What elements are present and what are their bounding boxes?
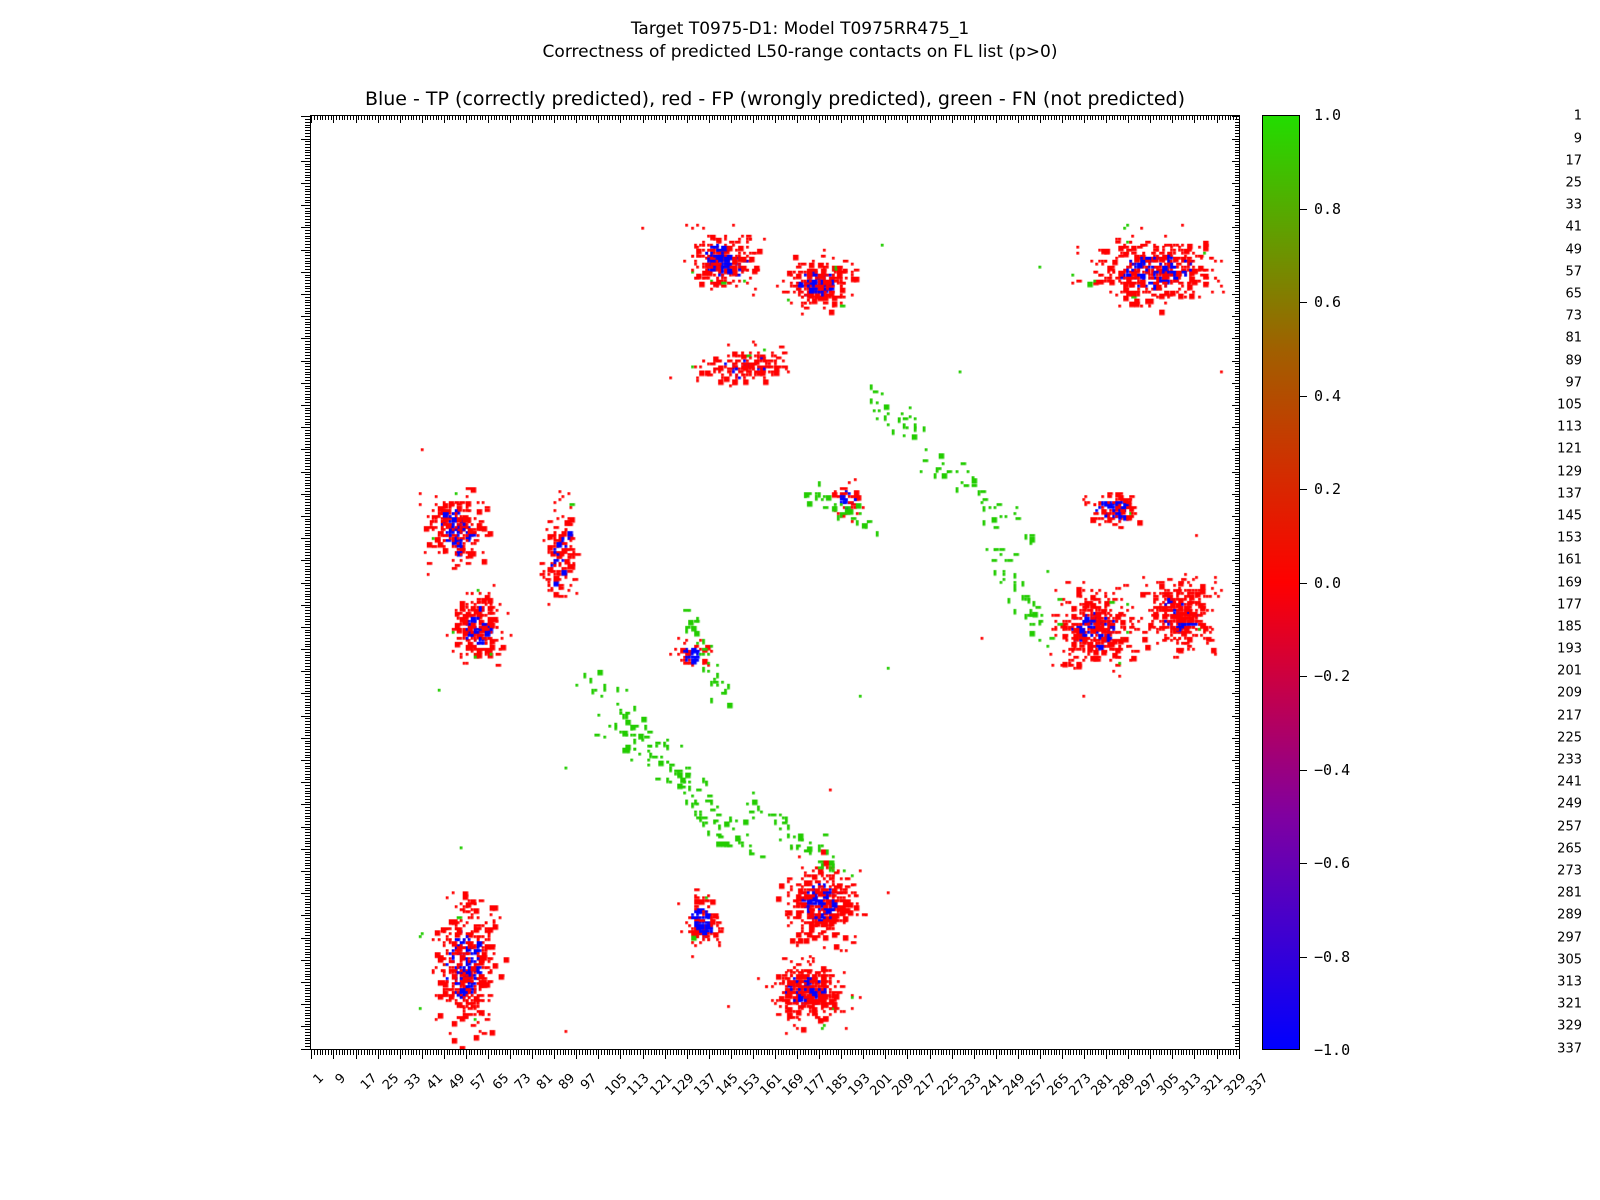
x-tick — [866, 1050, 867, 1055]
x-tick — [1059, 1050, 1060, 1055]
contact-map-canvas[interactable] — [311, 116, 1239, 1049]
x-tick-top — [1137, 115, 1138, 120]
x-tick — [391, 1050, 392, 1055]
x-tick — [1203, 1050, 1204, 1055]
x-tick-top — [1192, 115, 1193, 120]
x-tick-top — [529, 115, 530, 120]
y-axis-label: 297 — [1557, 930, 1582, 945]
x-tick — [850, 1050, 851, 1055]
x-tick-top — [325, 115, 326, 120]
x-tick-top — [1062, 115, 1063, 123]
x-tick-top — [723, 115, 724, 120]
y-tick — [305, 863, 310, 864]
y-tick-right — [1235, 755, 1240, 756]
colorbar-gradient — [1262, 115, 1300, 1050]
x-tick-top — [1125, 115, 1126, 120]
y-tick-right — [1235, 336, 1240, 337]
y-tick-right — [1235, 791, 1240, 792]
x-tick-top — [852, 115, 853, 120]
x-tick-top — [380, 115, 381, 120]
y-tick-right — [1235, 860, 1240, 861]
x-tick-top — [728, 115, 729, 120]
y-tick — [305, 133, 310, 134]
x-tick-top — [499, 115, 500, 120]
x-tick — [383, 1050, 384, 1055]
x-tick-top — [629, 115, 630, 120]
x-tick — [1114, 1050, 1115, 1055]
x-tick-top — [466, 115, 467, 123]
y-tick-right — [1235, 899, 1240, 900]
x-tick — [1004, 1050, 1005, 1055]
x-tick — [725, 1050, 726, 1055]
x-tick — [772, 1050, 773, 1055]
x-tick — [540, 1050, 541, 1055]
x-tick-top — [620, 115, 621, 123]
y-tick-right — [1235, 1035, 1240, 1036]
y-tick — [305, 541, 310, 542]
y-tick-right — [1235, 197, 1240, 198]
x-tick — [590, 1050, 591, 1055]
x-tick-top — [949, 115, 950, 120]
x-tick-top — [367, 115, 368, 120]
y-tick-right — [1235, 713, 1240, 714]
y-tick — [305, 824, 310, 825]
x-tick-top — [1203, 115, 1204, 120]
y-tick-right — [1235, 793, 1240, 794]
x-tick-top — [598, 115, 599, 123]
x-tick — [684, 1050, 685, 1055]
x-tick — [1065, 1050, 1066, 1055]
x-tick-top — [827, 115, 828, 120]
x-tick-top — [993, 115, 994, 120]
x-tick-top — [1068, 115, 1069, 120]
x-tick — [808, 1050, 809, 1055]
x-tick — [1021, 1050, 1022, 1055]
y-tick-right — [1235, 322, 1240, 323]
y-axis-label: 281 — [1557, 886, 1582, 901]
y-tick-right — [1235, 441, 1240, 442]
y-tick-right — [1235, 877, 1240, 878]
colorbar-ticks: 1.00.80.60.40.20.0−0.2−0.4−0.6−0.8−1.0 — [1300, 115, 1312, 1050]
y-tick-right — [1235, 521, 1240, 522]
x-tick-top — [1181, 115, 1182, 120]
x-tick — [535, 1050, 536, 1055]
x-tick — [814, 1050, 815, 1055]
y-tick — [305, 707, 310, 708]
x-tick — [916, 1050, 917, 1055]
x-tick-top — [502, 115, 503, 120]
y-tick-right — [1232, 494, 1240, 495]
x-tick — [1233, 1050, 1234, 1055]
x-tick — [1150, 1050, 1151, 1059]
y-tick-right — [1235, 177, 1240, 178]
y-tick — [305, 136, 310, 137]
x-tick — [1197, 1050, 1198, 1055]
y-tick — [305, 535, 310, 536]
y-tick — [305, 777, 310, 778]
x-tick-top — [905, 115, 906, 120]
x-tick — [596, 1050, 597, 1055]
y-tick — [305, 802, 310, 803]
y-tick-right — [1235, 455, 1240, 456]
x-tick-top — [1183, 115, 1184, 120]
y-tick — [305, 732, 310, 733]
colorbar-tick — [1300, 489, 1307, 490]
y-tick-right — [1235, 885, 1240, 886]
y-tick-right — [1235, 777, 1240, 778]
x-tick-top — [841, 115, 842, 123]
y-axis-label: 161 — [1557, 553, 1582, 568]
x-tick — [742, 1050, 743, 1055]
x-tick — [369, 1050, 370, 1055]
y-tick-right — [1235, 674, 1240, 675]
y-tick-right — [1235, 588, 1240, 589]
x-tick-top — [441, 115, 442, 120]
x-tick-top — [1034, 115, 1035, 120]
x-tick-top — [861, 115, 862, 120]
y-tick-right — [1235, 929, 1240, 930]
y-tick-right — [1235, 655, 1240, 656]
x-axis-label: 217 — [912, 1071, 940, 1099]
x-tick-top — [615, 115, 616, 120]
y-tick — [305, 774, 310, 775]
y-tick-right — [1232, 183, 1240, 184]
x-tick — [943, 1050, 944, 1055]
y-tick — [305, 569, 310, 570]
y-tick-right — [1235, 222, 1240, 223]
y-tick — [305, 713, 310, 714]
x-tick-top — [850, 115, 851, 120]
y-tick-right — [1235, 735, 1240, 736]
y-tick — [305, 1035, 310, 1036]
x-tick-top — [1112, 115, 1113, 120]
x-tick — [1090, 1050, 1091, 1055]
y-tick — [305, 324, 310, 325]
y-tick — [305, 985, 310, 986]
y-tick — [301, 649, 310, 650]
y-tick — [305, 347, 310, 348]
x-tick-top — [1012, 115, 1013, 120]
x-tick — [1214, 1050, 1215, 1055]
y-tick-right — [1235, 119, 1240, 120]
x-tick-top — [1040, 115, 1041, 123]
y-tick-right — [1235, 746, 1240, 747]
x-tick-top — [805, 115, 806, 120]
y-tick-right — [1235, 313, 1240, 314]
x-axis-label: 33 — [402, 1071, 424, 1093]
y-tick — [305, 735, 310, 736]
y-tick — [305, 865, 310, 866]
colorbar-tick-label: −0.2 — [1314, 667, 1350, 685]
y-tick — [305, 924, 310, 925]
y-tick — [305, 793, 310, 794]
x-tick — [325, 1050, 326, 1055]
x-axis-ticks — [310, 1050, 1240, 1064]
y-axis-label: 137 — [1557, 486, 1582, 501]
y-tick-right — [1235, 935, 1240, 936]
x-tick-top — [482, 115, 483, 120]
x-tick — [1054, 1050, 1055, 1055]
y-tick — [305, 843, 310, 844]
x-tick — [698, 1050, 699, 1055]
x-tick — [408, 1050, 409, 1055]
y-tick-right — [1235, 644, 1240, 645]
x-tick-top — [996, 115, 997, 123]
x-tick-top — [640, 115, 641, 120]
y-tick — [305, 455, 310, 456]
y-tick-right — [1235, 175, 1240, 176]
y-tick — [305, 266, 310, 267]
x-tick — [631, 1050, 632, 1055]
x-tick — [665, 1050, 666, 1059]
x-tick — [1026, 1050, 1027, 1055]
y-tick — [305, 164, 310, 165]
y-tick-right — [1235, 757, 1240, 758]
y-tick-right — [1235, 741, 1240, 742]
x-tick — [1106, 1050, 1107, 1059]
colorbar-tick-label: −0.6 — [1314, 854, 1350, 872]
y-tick — [305, 779, 310, 780]
x-tick — [706, 1050, 707, 1055]
x-tick — [1073, 1050, 1074, 1055]
x-tick-top — [394, 115, 395, 120]
x-tick — [322, 1050, 323, 1055]
y-tick — [305, 180, 310, 181]
x-tick-top — [596, 115, 597, 120]
x-tick — [1139, 1050, 1140, 1055]
y-tick — [305, 485, 310, 486]
x-tick-top — [673, 115, 674, 120]
y-tick — [305, 330, 310, 331]
x-tick — [1137, 1050, 1138, 1055]
x-tick — [963, 1050, 964, 1055]
x-tick-top — [767, 115, 768, 120]
y-tick-right — [1235, 308, 1240, 309]
y-tick-right — [1235, 577, 1240, 578]
y-tick — [305, 741, 310, 742]
y-tick-right — [1235, 852, 1240, 853]
x-tick — [1175, 1050, 1176, 1055]
x-tick — [825, 1050, 826, 1055]
y-tick — [305, 546, 310, 547]
contact-map-plot[interactable] — [310, 115, 1240, 1050]
x-tick-top — [952, 115, 953, 123]
x-tick — [1103, 1050, 1104, 1055]
y-tick — [305, 208, 310, 209]
x-tick — [502, 1050, 503, 1055]
y-tick — [305, 896, 310, 897]
x-tick — [1178, 1050, 1179, 1055]
y-tick — [305, 460, 310, 461]
y-tick-right — [1235, 749, 1240, 750]
y-tick-right — [1235, 319, 1240, 320]
y-axis-ticks — [296, 115, 310, 1050]
x-tick-top — [910, 115, 911, 120]
x-tick-top — [1217, 115, 1218, 123]
x-tick-top — [1029, 115, 1030, 120]
x-tick — [927, 1050, 928, 1055]
y-tick-right — [1235, 1043, 1240, 1044]
y-tick-right — [1235, 144, 1240, 145]
y-tick-right — [1235, 669, 1240, 670]
y-tick-right — [1235, 463, 1240, 464]
x-axis-label: 1 — [311, 1071, 327, 1087]
y-tick-right — [1235, 388, 1240, 389]
x-tick — [568, 1050, 569, 1055]
x-tick-top — [987, 115, 988, 120]
y-tick — [305, 1024, 310, 1025]
y-tick-right — [1235, 258, 1240, 259]
x-tick — [714, 1050, 715, 1055]
y-tick — [305, 724, 310, 725]
y-tick-right — [1235, 150, 1240, 151]
x-tick — [976, 1050, 977, 1055]
y-tick-right — [1235, 530, 1240, 531]
y-tick-right — [1235, 211, 1240, 212]
y-tick-right — [1235, 208, 1240, 209]
x-tick — [919, 1050, 920, 1055]
x-tick-top — [869, 115, 870, 120]
x-tick-top — [344, 115, 345, 120]
x-tick-top — [1145, 115, 1146, 120]
x-tick — [670, 1050, 671, 1055]
y-tick — [305, 841, 310, 842]
y-tick-right — [1235, 932, 1240, 933]
x-tick — [880, 1050, 881, 1055]
x-tick — [378, 1050, 379, 1059]
x-tick — [1007, 1050, 1008, 1055]
y-tick-right — [1235, 380, 1240, 381]
x-tick-top — [471, 115, 472, 120]
y-tick-right — [1235, 1046, 1240, 1047]
y-tick-right — [1232, 804, 1240, 805]
y-tick — [305, 674, 310, 675]
x-tick — [1181, 1050, 1182, 1055]
x-tick-top — [463, 115, 464, 120]
y-tick — [301, 1004, 310, 1005]
x-tick — [703, 1050, 704, 1055]
y-tick — [305, 219, 310, 220]
x-tick-top — [491, 115, 492, 120]
x-tick — [499, 1050, 500, 1055]
y-tick — [305, 771, 310, 772]
y-tick-right — [1235, 330, 1240, 331]
y-tick — [301, 716, 310, 717]
x-tick-top — [1015, 115, 1016, 120]
colorbar-tick-label: 0.6 — [1314, 293, 1341, 311]
colorbar-tick-label: 0.4 — [1314, 387, 1341, 405]
y-axis-label: 169 — [1557, 575, 1582, 590]
x-tick — [1079, 1050, 1080, 1055]
y-tick — [305, 594, 310, 595]
y-tick-right — [1235, 238, 1240, 239]
y-tick — [305, 621, 310, 622]
y-tick — [301, 827, 310, 828]
y-tick — [305, 854, 310, 855]
x-tick-top — [689, 115, 690, 120]
x-tick-top — [455, 115, 456, 120]
x-tick-top — [527, 115, 528, 120]
x-tick — [441, 1050, 442, 1055]
y-tick-right — [1235, 594, 1240, 595]
y-tick — [305, 236, 310, 237]
y-tick-right — [1235, 263, 1240, 264]
y-tick-right — [1232, 294, 1240, 295]
colorbar-tick — [1300, 957, 1307, 958]
x-tick — [494, 1050, 495, 1055]
y-tick-right — [1235, 544, 1240, 545]
y-tick-right — [1235, 821, 1240, 822]
y-tick-right — [1235, 574, 1240, 575]
x-tick-top — [742, 115, 743, 120]
y-tick — [305, 929, 310, 930]
x-tick-top — [411, 115, 412, 120]
x-tick — [405, 1050, 406, 1055]
x-tick-top — [714, 115, 715, 120]
y-tick-right — [1235, 324, 1240, 325]
y-tick — [305, 877, 310, 878]
x-tick — [1015, 1050, 1016, 1055]
x-tick-top — [833, 115, 834, 120]
y-tick — [305, 607, 310, 608]
x-tick — [731, 1050, 732, 1059]
x-tick — [507, 1050, 508, 1055]
y-tick-right — [1235, 216, 1240, 217]
x-tick — [678, 1050, 679, 1055]
x-tick-top — [896, 115, 897, 120]
y-tick-right — [1235, 369, 1240, 370]
x-tick-top — [571, 115, 572, 120]
y-tick-right — [1235, 832, 1240, 833]
y-tick — [301, 671, 310, 672]
y-tick-right — [1235, 976, 1240, 977]
x-tick — [1051, 1050, 1052, 1055]
x-tick-top — [692, 115, 693, 120]
y-tick — [305, 563, 310, 564]
x-tick — [1048, 1050, 1049, 1055]
y-tick — [305, 577, 310, 578]
x-tick — [554, 1050, 555, 1059]
x-tick — [372, 1050, 373, 1055]
x-tick-top — [546, 115, 547, 120]
y-tick-right — [1235, 785, 1240, 786]
y-tick-right — [1235, 300, 1240, 301]
x-tick — [320, 1050, 321, 1055]
x-tick — [361, 1050, 362, 1055]
y-tick-right — [1235, 796, 1240, 797]
y-tick-right — [1235, 580, 1240, 581]
x-tick-top — [734, 115, 735, 120]
y-tick-right — [1232, 560, 1240, 561]
colorbar-tick-label: −0.8 — [1314, 948, 1350, 966]
x-tick — [800, 1050, 801, 1055]
y-tick — [301, 449, 310, 450]
x-tick-top — [938, 115, 939, 120]
x-tick — [816, 1050, 817, 1055]
figure-title: Target T0975-D1: Model T0975RR475_1 Corr… — [0, 18, 1600, 64]
y-tick — [305, 483, 310, 484]
y-tick — [305, 424, 310, 425]
y-tick — [305, 566, 310, 567]
x-tick-top — [474, 115, 475, 120]
x-tick — [717, 1050, 718, 1055]
y-tick — [305, 197, 310, 198]
x-tick-top — [386, 115, 387, 120]
x-tick — [411, 1050, 412, 1055]
x-tick — [1208, 1050, 1209, 1055]
y-tick — [305, 438, 310, 439]
y-tick — [305, 447, 310, 448]
